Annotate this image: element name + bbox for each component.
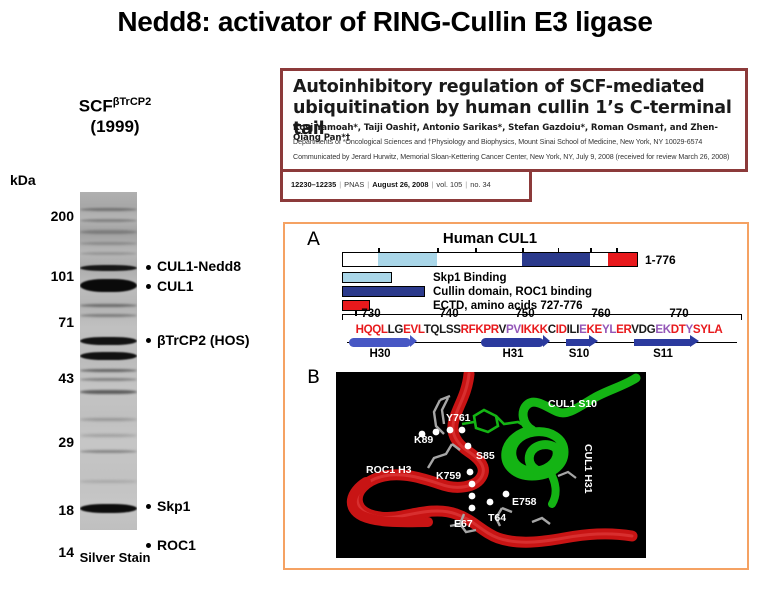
- gel-footer-label: Silver Stain: [0, 550, 230, 565]
- band-marker-dot: [146, 284, 151, 289]
- bar-tick: [558, 248, 560, 253]
- paper-header-box: Autoinhibitory regulation of SCF-mediate…: [280, 68, 748, 172]
- strand-s11-arrowhead: [690, 335, 699, 347]
- gel-lane-image: [80, 192, 137, 530]
- citation-journal: PNAS: [344, 180, 364, 189]
- struct-label-cul1-h31: CUL1 H31: [582, 444, 594, 494]
- helix-h31: [481, 338, 544, 347]
- sequence-chunk: ER: [616, 323, 631, 336]
- band-marker-dot: [146, 338, 151, 343]
- sequence-chunk: EK: [655, 323, 670, 336]
- ladder-label: 43: [28, 370, 74, 386]
- page-title: Nedd8: activator of RING-Cullin E3 ligas…: [0, 6, 770, 38]
- sequence-chunk: VDG: [631, 323, 655, 336]
- ss-label-h30: H30: [358, 348, 402, 360]
- ss-label-s10: S10: [557, 348, 601, 360]
- legend-swatch-cullin: [342, 286, 425, 297]
- struct-label-y761: Y761: [446, 412, 471, 424]
- sequence-chunk: YL: [602, 323, 616, 336]
- residue-number: 770: [661, 308, 697, 320]
- bar-tick: [475, 248, 477, 253]
- sequence-chunk: LG: [388, 323, 403, 336]
- domain-segment-skp1-binding: [378, 253, 437, 266]
- struct-label-cul1-s10: CUL1 S10: [548, 398, 597, 410]
- strand-s10-arrowhead: [589, 335, 598, 347]
- band-label-cul1: CUL1: [157, 278, 194, 294]
- panel-a-letter: A: [307, 228, 320, 250]
- citation-volume: vol. 105: [436, 180, 462, 189]
- band-label-btrcp2: βTrCP2 (HOS): [157, 332, 250, 348]
- citation-issue: no. 34: [470, 180, 491, 189]
- gel-panel: SCFβTrCP2 (1999) kDa 200 101: [0, 90, 278, 590]
- domain-segment-ectd: [608, 253, 637, 266]
- band-label-cul1-nedd8: CUL1-Nedd8: [157, 258, 241, 274]
- paper-citation-line: 12230–12235|PNAS|August 26, 2008|vol. 10…: [291, 180, 491, 189]
- ladder-label: 18: [28, 502, 74, 518]
- paper-title-line-1: Autoinhibitory regulation of SCF-mediate…: [293, 77, 741, 98]
- ladder-label: 200: [28, 208, 74, 224]
- residue-number: 750: [507, 308, 543, 320]
- domain-segment-linker: [590, 253, 608, 266]
- sequence-chunk: DT: [671, 323, 686, 336]
- struct-label-s85: S85: [476, 450, 495, 462]
- ladder-label: 71: [28, 314, 74, 330]
- legend-label-skp1: Skp1 Binding: [433, 272, 506, 284]
- cul1-domain-bar: [342, 252, 638, 267]
- citation-pages: 12230–12235: [291, 180, 336, 189]
- band-marker-dot: [146, 265, 151, 270]
- cul1-range-label: 1-776: [645, 253, 676, 267]
- ss-label-s11: S11: [641, 348, 685, 360]
- ladder-label: 29: [28, 434, 74, 450]
- struct-label-roc1-h3: ROC1 H3: [366, 464, 412, 476]
- strand-s11: [634, 339, 691, 346]
- paper-communicated-by: Communicated by Jerard Hurwitz, Memorial…: [293, 153, 745, 161]
- protein-structure-image: CUL1 S10 CUL1 H31 ROC1 H3 Y761 K89 S85 K…: [336, 372, 646, 558]
- strand-s10: [566, 339, 590, 346]
- residue-number: 740: [431, 308, 467, 320]
- bar-tick: [590, 248, 592, 253]
- gel-heading-superscript: βTrCP2: [113, 96, 152, 108]
- legend-swatch-skp1: [342, 272, 392, 283]
- band-marker-dot: [146, 504, 151, 509]
- sequence-chunk: PV: [506, 323, 521, 336]
- domain-segment-middle: [437, 253, 522, 266]
- amino-acid-sequence: HQQLLGEVLTQLSSRFKPRVPVIKKKCIDILIEKEYLERV…: [337, 323, 741, 336]
- bar-tick: [616, 248, 618, 253]
- bar-tick: [437, 248, 439, 253]
- sequence-chunk: ID: [556, 323, 567, 336]
- paper-citation-box: 12230–12235|PNAS|August 26, 2008|vol. 10…: [280, 172, 532, 202]
- panel-a-title: Human CUL1: [345, 230, 635, 247]
- sequence-chunk: V: [499, 323, 506, 336]
- helix-h30: [349, 338, 411, 347]
- struct-label-k759: K759: [436, 470, 461, 482]
- legend-label-cullin: Cullin domain, ROC1 binding: [433, 286, 592, 298]
- gel-year-label: (1999): [0, 117, 230, 137]
- residue-number: 730: [353, 308, 389, 320]
- helix-h31-arrowhead: [543, 335, 550, 347]
- struct-label-e67: E67: [454, 518, 473, 530]
- figure-box: A Human CUL1 1-776 Skp1 Binding Cullin d…: [283, 222, 749, 570]
- ss-label-h31: H31: [491, 348, 535, 360]
- bar-tick: [522, 248, 524, 253]
- band-label-skp1: Skp1: [157, 498, 190, 514]
- sequence-chunk: RFKPR: [461, 323, 499, 336]
- helix-h30-arrowhead: [410, 335, 417, 347]
- paper-affiliation: Departments of *Oncological Sciences and…: [293, 138, 745, 146]
- domain-segment-n-terminal: [343, 253, 378, 266]
- sequence-chunk: ILI: [567, 323, 579, 336]
- gel-heading: SCFβTrCP2: [0, 90, 230, 119]
- struct-label-t64: T64: [488, 512, 506, 524]
- band-marker-dot: [146, 543, 151, 548]
- sequence-chunk: E: [579, 323, 586, 336]
- panel-b-letter: B: [307, 366, 320, 388]
- residue-number: 760: [583, 308, 619, 320]
- bar-tick: [378, 248, 380, 253]
- gel-heading-main: SCF: [79, 97, 113, 116]
- kda-axis-label: kDa: [10, 172, 36, 188]
- struct-label-k89: K89: [414, 434, 433, 446]
- domain-segment-cullin: [522, 253, 590, 266]
- sequence-chunk: TQLSS: [424, 323, 461, 336]
- struct-label-e758: E758: [512, 496, 537, 508]
- sequence-chunk: HQQL: [356, 323, 388, 336]
- ladder-label: 101: [28, 268, 74, 284]
- citation-date: August 26, 2008: [372, 180, 428, 189]
